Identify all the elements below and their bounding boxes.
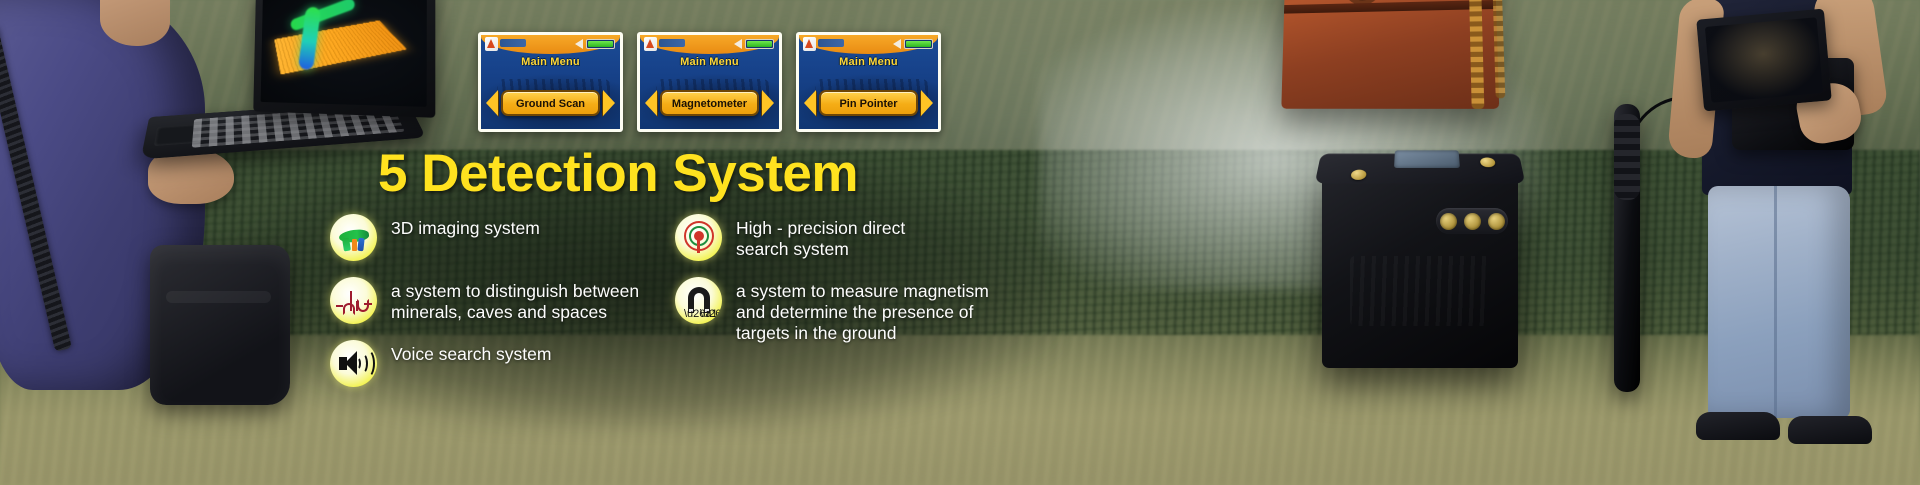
feature-label: High - precision direct search system	[736, 214, 905, 260]
person-right-shoe	[1788, 416, 1872, 444]
wand-grip	[1614, 114, 1640, 200]
person-right-jeans	[1708, 186, 1850, 418]
feature-column-left: 3D imaging system a system to distinguis…	[330, 214, 690, 403]
page-title: 5 Detection System	[378, 143, 1018, 204]
feature-item-mineral-distinction: a system to distinguish between minerals…	[330, 277, 690, 324]
next-arrow-icon[interactable]	[762, 90, 774, 116]
horseshoe-magnet-icon: \u26a1\u26a1	[675, 277, 722, 324]
detector-display	[1394, 150, 1460, 168]
device-panel-ground-scan[interactable]: Main Menu Ground Scan	[478, 32, 623, 132]
feature-item-voice-search: Voice search system	[330, 340, 690, 387]
detector-knob	[1350, 170, 1366, 180]
panel-title: Main Menu	[799, 56, 938, 68]
brand-wordmark	[818, 39, 844, 47]
panel-selector-row: Ground Scan	[486, 90, 615, 116]
next-arrow-icon[interactable]	[921, 90, 933, 116]
battery-icon	[586, 39, 615, 49]
panel-selector-row: Pin Pointer	[804, 90, 933, 116]
device-panel-magnetometer[interactable]: Main Menu Magnetometer	[637, 32, 782, 132]
treasure-chest-photo	[1281, 0, 1499, 109]
feature-label: a system to measure magnetism and determ…	[736, 277, 989, 344]
speaker-icon	[575, 39, 583, 49]
prev-arrow-icon[interactable]	[804, 90, 816, 116]
feature-item-magnetism: \u26a1\u26a1 a system to measure magneti…	[675, 277, 1095, 344]
detector-port	[1440, 213, 1457, 230]
feature-label: Voice search system	[391, 340, 551, 365]
3d-terrain-icon	[330, 214, 377, 261]
tablet-device	[1696, 9, 1832, 112]
prev-arrow-icon[interactable]	[486, 90, 498, 116]
feature-label: a system to distinguish between minerals…	[391, 277, 639, 323]
feature-label: 3D imaging system	[391, 214, 540, 239]
brand-wordmark	[659, 39, 685, 47]
chest-trim	[1468, 0, 1484, 109]
laptop-3d-scan-display	[148, 0, 438, 156]
device-menu-panels: Main Menu Ground Scan Main Menu Magnetom…	[478, 32, 941, 132]
feature-column-right: High - precision direct search system \u…	[675, 214, 1095, 360]
prev-arrow-icon[interactable]	[645, 90, 657, 116]
battery-icon	[904, 39, 933, 49]
person-right-shoe	[1696, 412, 1780, 440]
laptop-lid	[253, 0, 435, 118]
brand-logo-icon	[644, 37, 657, 51]
panel-selector-row: Magnetometer	[645, 90, 774, 116]
mode-button[interactable]: Pin Pointer	[819, 90, 918, 116]
next-arrow-icon[interactable]	[603, 90, 615, 116]
detector-emboss	[1350, 256, 1490, 326]
brand-logo-icon	[485, 37, 498, 51]
chest-band	[1284, 0, 1496, 14]
feature-item-3d-imaging: 3D imaging system	[330, 214, 690, 261]
mode-button[interactable]: Ground Scan	[501, 90, 600, 116]
feature-item-direct-search: High - precision direct search system	[675, 214, 1095, 261]
mode-button[interactable]: Magnetometer	[660, 90, 759, 116]
detector-lid	[1315, 154, 1525, 184]
device-panel-pin-pointer[interactable]: Main Menu Pin Pointer	[796, 32, 941, 132]
brand-wordmark	[500, 39, 526, 47]
laptop-screen	[261, 0, 427, 107]
brand-logo-icon	[803, 37, 816, 51]
panel-title: Main Menu	[640, 56, 779, 68]
panel-title: Main Menu	[481, 56, 620, 68]
speaker-icon	[893, 39, 901, 49]
detector-port	[1464, 213, 1481, 230]
detector-port	[1488, 213, 1505, 230]
shoulder-bag	[150, 245, 290, 405]
chest-trim-outer	[1492, 0, 1506, 98]
waveform-pulse-icon	[330, 277, 377, 324]
speaker-sound-icon	[330, 340, 377, 387]
detector-promo-banner: Main Menu Ground Scan Main Menu Magnetom…	[0, 0, 1920, 485]
detector-control-unit	[1322, 168, 1518, 368]
speaker-icon	[734, 39, 742, 49]
battery-icon	[745, 39, 774, 49]
antenna-signal-icon	[675, 214, 722, 261]
detector-knob	[1480, 157, 1496, 167]
detector-port-row	[1436, 208, 1508, 234]
search-probe-wand	[1614, 104, 1640, 392]
